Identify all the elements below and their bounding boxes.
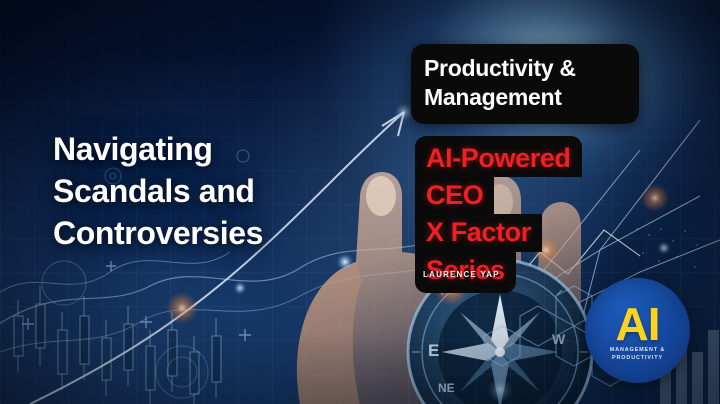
series-line-1: AI-Powered — [415, 136, 582, 177]
series-line-2: CEO — [415, 177, 494, 214]
badge-initials: AI — [616, 303, 660, 345]
badge-subtitle: MANAGEMENT & PRODUCTIVITY — [610, 346, 665, 362]
category-label: Productivity & Management — [411, 44, 639, 124]
headline-line-1: Navigating — [53, 128, 353, 170]
badge-subtitle-line-2: PRODUCTIVITY — [610, 354, 665, 362]
author-byline: LAURENCE YAP — [423, 270, 500, 279]
badge-subtitle-line-1: MANAGEMENT & — [610, 346, 665, 354]
video-thumbnail: E NE W 0E — [0, 0, 720, 404]
series-line-3: X Factor — [415, 214, 542, 251]
headline-line-3: Controversies — [53, 212, 353, 254]
headline-line-2: Scandals and — [53, 170, 353, 212]
headline: Navigating Scandals and Controversies — [53, 128, 353, 255]
ai-brand-badge: AI MANAGEMENT & PRODUCTIVITY — [585, 278, 690, 383]
category-line-2: Management — [424, 83, 626, 112]
category-line-1: Productivity & — [424, 54, 626, 83]
